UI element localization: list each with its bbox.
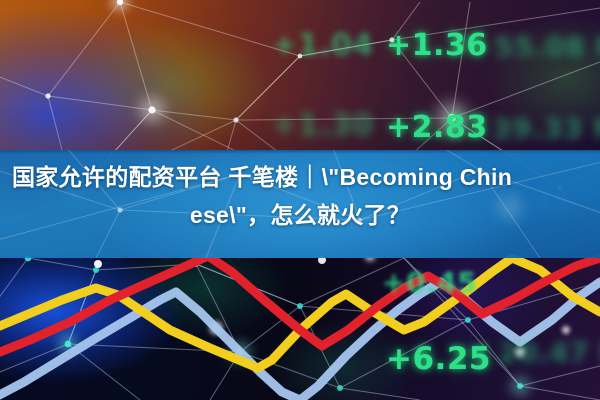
ticker-value: +2.83 <box>386 110 488 145</box>
page-title-line-1: 国家允许的配资平台 千笔楼｜\"Becoming Chin <box>12 158 588 196</box>
title-band-edge <box>0 150 600 154</box>
ticker-value: +6.25 <box>386 341 491 377</box>
thumbnail-canvas: +1.04+1.3655.08 M+1.30+2.8339.33 M37.45+… <box>0 0 600 400</box>
ticker-value: 39.33 M <box>492 112 600 145</box>
page-title: 国家允许的配资平台 千笔楼｜\"Becoming Chin ese\"，怎么就火… <box>0 158 600 234</box>
ticker-value: +1.30 <box>272 108 374 143</box>
ticker-value: +0.45 <box>382 266 477 299</box>
page-title-line-2: ese\"，怎么就火了？ <box>12 196 588 234</box>
ticker-value: +1.36 <box>386 28 488 63</box>
ticker-value: 20.47 B <box>498 336 600 369</box>
ticker-value: 55.08 M <box>494 30 600 63</box>
ticker-value: +1.04 <box>272 28 374 63</box>
